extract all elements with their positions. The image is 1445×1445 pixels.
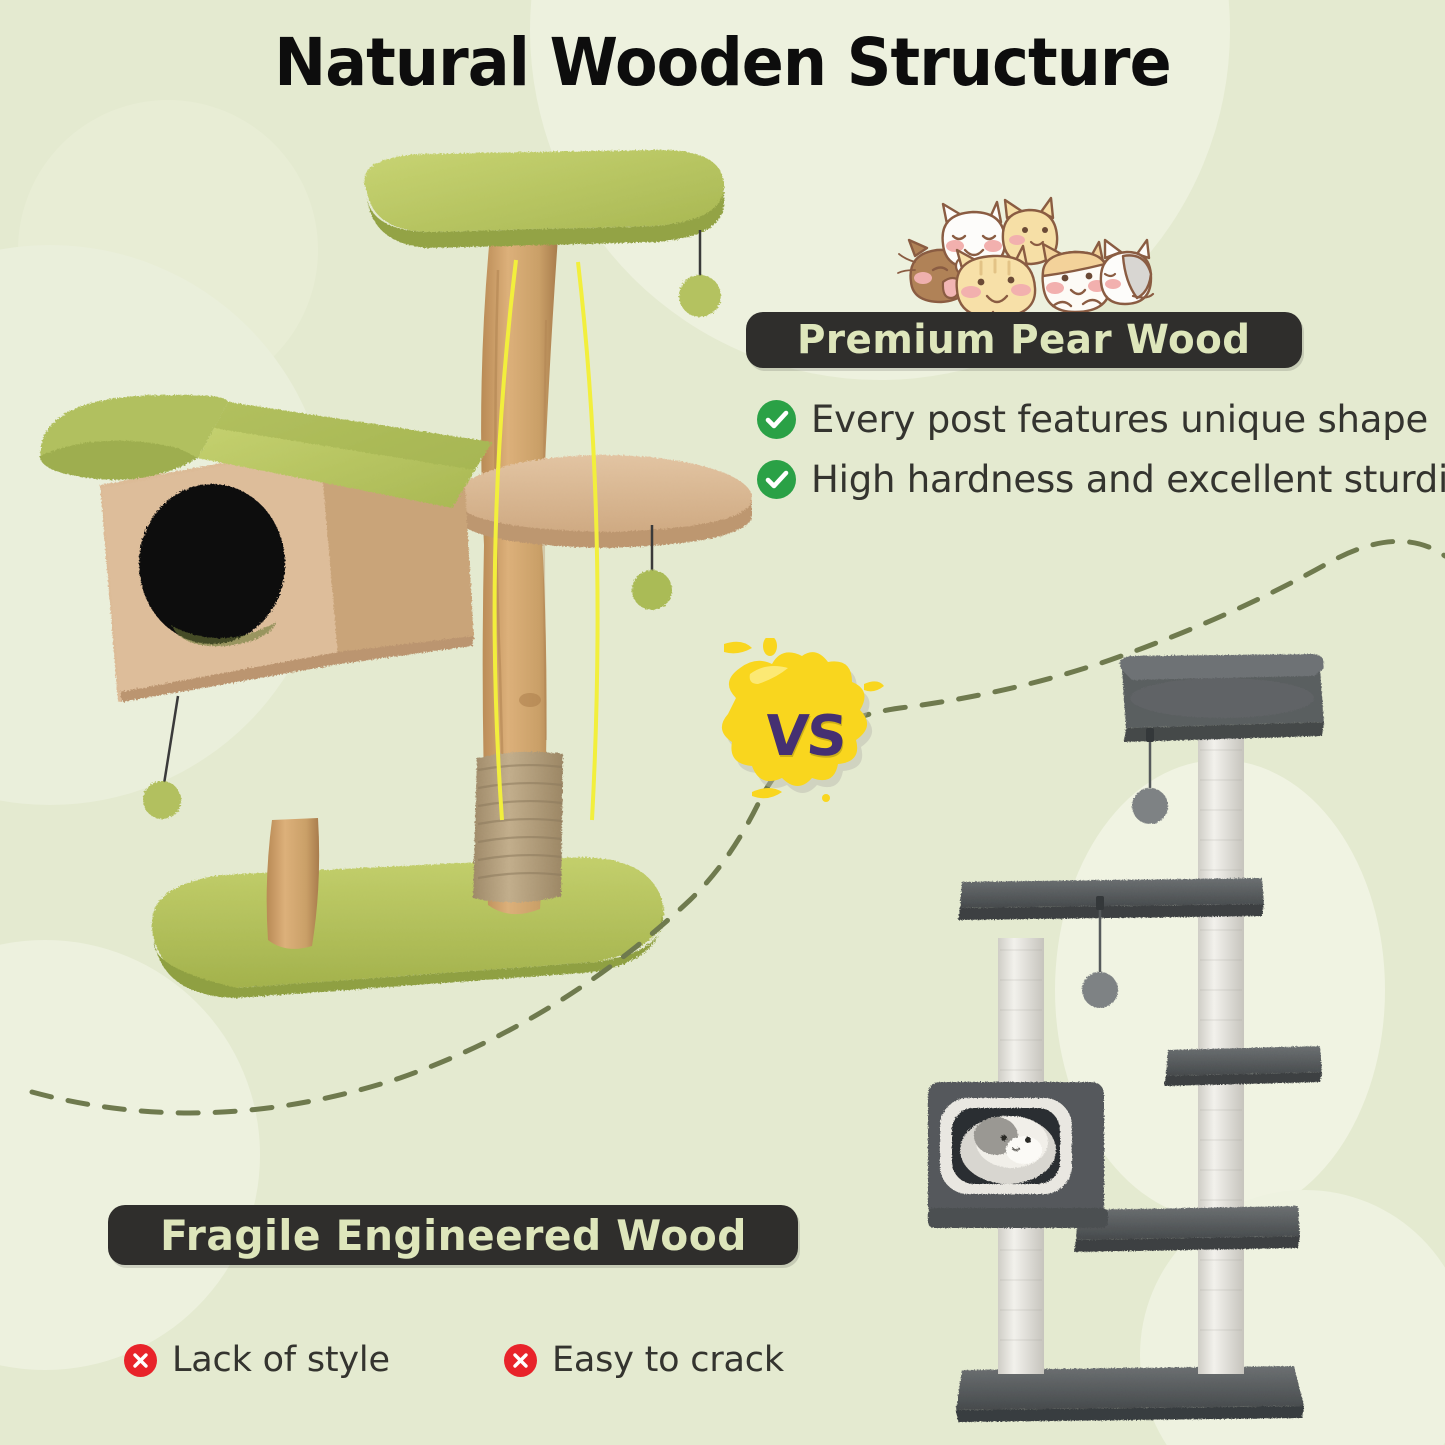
- page-title: Natural Wooden Structure: [43, 24, 1401, 101]
- x-circle-icon: [504, 1344, 537, 1377]
- badge-fragile-engineered-wood: Fragile Engineered Wood: [108, 1205, 798, 1265]
- check-circle-icon: [757, 460, 796, 499]
- con-item-2: Easy to crack: [504, 1340, 784, 1380]
- badge-premium-label: Premium Pear Wood: [797, 317, 1251, 363]
- infographic-canvas: Natural Wooden Structure: [0, 0, 1445, 1445]
- con-item-2-label: Easy to crack: [552, 1340, 784, 1380]
- pro-item-1: Every post features unique shape: [757, 398, 1428, 441]
- check-circle-icon: [757, 400, 796, 439]
- versus-badge: . VS: [706, 638, 896, 823]
- con-item-1: Lack of style: [124, 1340, 390, 1380]
- pro-item-2-label: High hardness and excellent sturdiness: [811, 458, 1445, 501]
- x-circle-icon: [124, 1344, 157, 1377]
- versus-label: VS: [704, 644, 907, 829]
- cat-group-illustration: [893, 196, 1155, 318]
- pro-item-2: High hardness and excellent sturdiness: [757, 458, 1445, 501]
- pro-item-1-label: Every post features unique shape: [811, 398, 1428, 441]
- badge-fragile-label: Fragile Engineered Wood: [160, 1211, 747, 1260]
- con-item-1-label: Lack of style: [172, 1340, 390, 1380]
- dashed-divider-line: [0, 500, 1445, 1160]
- badge-premium-pear-wood: Premium Pear Wood: [746, 312, 1302, 368]
